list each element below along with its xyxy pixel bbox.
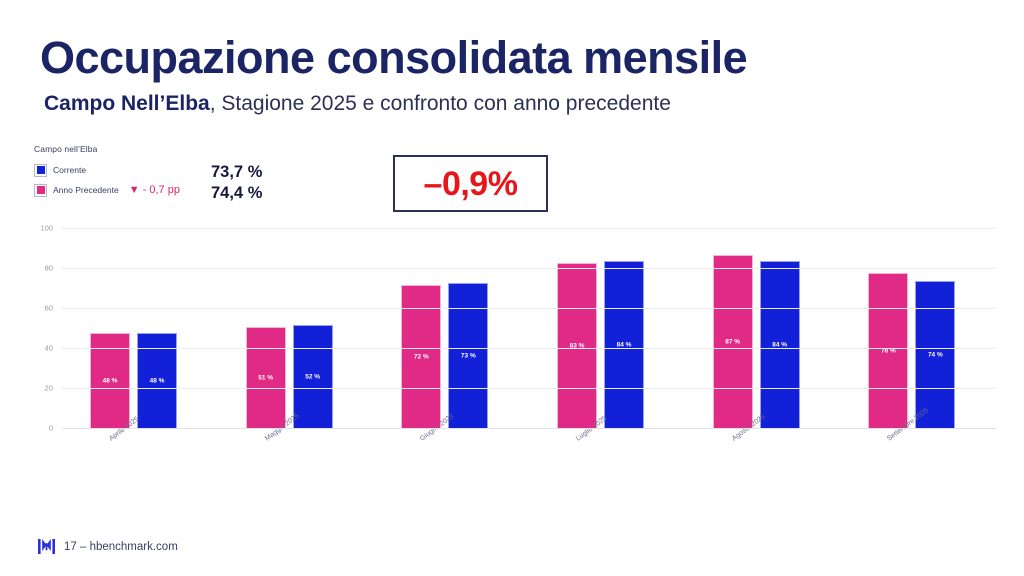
chart-bar[interactable]: 52 % [293, 325, 333, 429]
legend-item-anno-precedente-label: Anno Precedente [53, 185, 119, 195]
chart-bar-group: 51 %52 %Maggio 2025 [218, 229, 374, 429]
chart-bar-group: 83 %84 %Luglio 2025 [529, 229, 685, 429]
bar-chart: 48 %48 %Aprile 202551 %52 %Maggio 202572… [22, 222, 1004, 437]
chart-plot-area: 48 %48 %Aprile 202551 %52 %Maggio 202572… [62, 229, 996, 429]
chart-bar-value-label: 51 % [247, 375, 285, 382]
chart-bar[interactable]: 84 % [760, 261, 800, 429]
hbenchmark-logo-icon [38, 539, 55, 554]
legend-value-anno-precedente: 74,4 % [211, 184, 262, 203]
legend-value-corrente: 73,7 % [211, 163, 262, 182]
chart-bar-value-label: 74 % [916, 352, 954, 359]
y-axis-tick-label: 20 [45, 384, 53, 393]
chart-gridline: 40 [62, 348, 996, 349]
y-axis-tick-label: 0 [49, 424, 53, 433]
chart-bar[interactable]: 84 % [604, 261, 644, 429]
y-axis-tick-label: 80 [45, 264, 53, 273]
square-swatch-icon [34, 164, 47, 177]
chart-bar-value-label: 48 % [138, 378, 176, 385]
page-subtitle: Campo Nell’Elba, Stagione 2025 e confron… [44, 92, 671, 116]
chart-gridline: 80 [62, 268, 996, 269]
y-axis-tick-label: 60 [45, 304, 53, 313]
variation-callout-value: –0,9% [424, 167, 518, 201]
chart-bar-value-label: 48 % [91, 378, 129, 385]
chart-gridline: 60 [62, 308, 996, 309]
chart-bar[interactable]: 78 % [868, 273, 908, 429]
chart-bar-value-label: 87 % [714, 339, 752, 346]
y-axis-tick-label: 100 [40, 224, 53, 233]
chart-bar-value-label: 72 % [402, 354, 440, 361]
chart-gridline: 0 [62, 428, 996, 429]
footer: 17 – hbenchmark.com [38, 539, 178, 554]
chart-bar-groups: 48 %48 %Aprile 202551 %52 %Maggio 202572… [62, 229, 996, 429]
chart-bar[interactable]: 83 % [557, 263, 597, 429]
chart-bar-group: 78 %74 %Settembre 2025 [840, 229, 996, 429]
legend-item-anno-precedente[interactable]: Anno Precedente ▼ - 0,7 pp [34, 180, 334, 200]
chart-gridline: 20 [62, 388, 996, 389]
variation-callout-box: –0,9% [393, 155, 548, 212]
y-axis-tick-label: 40 [45, 344, 53, 353]
chart-bar-value-label: 73 % [449, 353, 487, 360]
chart-legend: Campo nell’Elba Corrente Anno Precedente… [34, 144, 334, 200]
square-swatch-icon [34, 184, 47, 197]
chart-bar[interactable]: 73 % [448, 283, 488, 429]
chart-bar-group: 87 %84 %Agosto 2025 [685, 229, 841, 429]
legend-item-corrente[interactable]: Corrente [34, 160, 334, 180]
legend-title: Campo nell’Elba [34, 144, 334, 154]
chart-bar-value-label: 52 % [294, 374, 332, 381]
chart-bar-group: 72 %73 %Giugno 2025 [373, 229, 529, 429]
legend-item-corrente-label: Corrente [53, 165, 86, 175]
footer-label: 17 – hbenchmark.com [64, 541, 178, 553]
chart-gridline: 100 [62, 228, 996, 229]
legend-delta-badge: ▼ - 0,7 pp [129, 184, 180, 196]
chart-bar[interactable]: 87 % [713, 255, 753, 429]
subtitle-property-name: Campo Nell’Elba [44, 92, 210, 115]
chart-bar[interactable]: 72 % [401, 285, 441, 429]
page-title: Occupazione consolidata mensile [40, 32, 747, 84]
chart-bar[interactable]: 51 % [246, 327, 286, 429]
subtitle-description: , Stagione 2025 e confronto con anno pre… [210, 92, 671, 115]
chart-bar[interactable]: 74 % [915, 281, 955, 429]
chart-bar-group: 48 %48 %Aprile 2025 [62, 229, 218, 429]
